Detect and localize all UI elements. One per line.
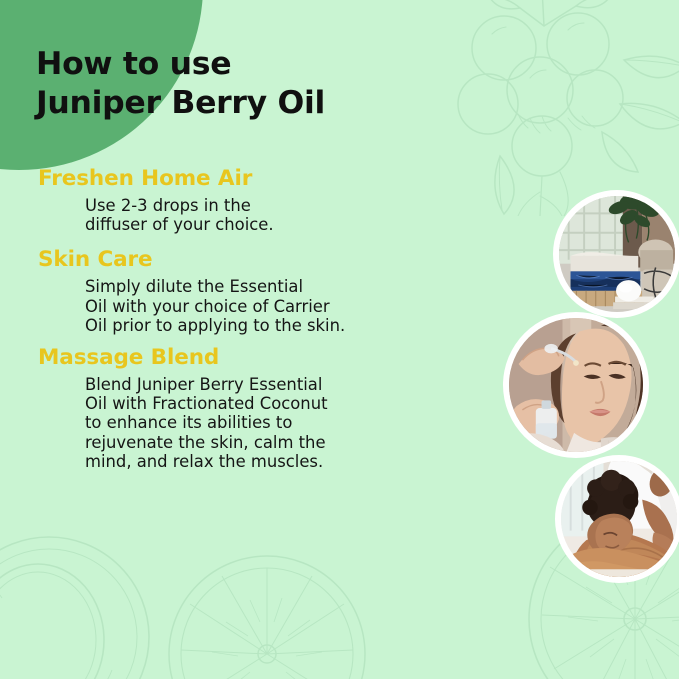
section-body: Use 2-3 drops in the diffuser of your ch…: [85, 196, 520, 234]
section-body-line: mind, and relax the muscles.: [85, 452, 520, 471]
photo-diffuser-room: [553, 190, 679, 318]
fruit-slice-left-watermark-icon: [0, 530, 157, 679]
section-skin-care: Skin Care Simply dilute the Essential Oi…: [0, 247, 520, 335]
page-title: How to use Juniper Berry Oil: [36, 45, 456, 122]
section-body-line: rejuvenate the skin, calm the: [85, 433, 520, 452]
section-freshen-home-air: Freshen Home Air Use 2-3 drops in the di…: [0, 166, 520, 234]
photo-facial-serum: [503, 312, 649, 458]
usage-sections: Freshen Home Air Use 2-3 drops in the di…: [0, 166, 520, 475]
page-title-line-2: Juniper Berry Oil: [36, 84, 456, 123]
section-body-line: Oil prior to applying to the skin.: [85, 316, 520, 335]
section-body: Blend Juniper Berry Essential Oil with F…: [85, 375, 520, 471]
fruit-slice-middle-watermark-icon: [160, 542, 375, 679]
photo-diffuser-room-image: [559, 196, 675, 312]
section-body: Simply dilute the Essential Oil with you…: [85, 277, 520, 335]
section-heading: Freshen Home Air: [38, 166, 520, 191]
page-title-line-1: How to use: [36, 45, 456, 84]
section-body-line: Oil with your choice of Carrier: [85, 297, 520, 316]
section-body-line: Use 2-3 drops in the: [85, 196, 520, 215]
poster-canvas: How to use Juniper Berry Oil Freshen Hom…: [0, 0, 679, 679]
section-heading: Skin Care: [38, 247, 520, 272]
photo-facial-serum-image: [509, 318, 643, 452]
section-body-line: Simply dilute the Essential: [85, 277, 520, 296]
section-body-line: diffuser of your choice.: [85, 215, 520, 234]
section-massage-blend: Massage Blend Blend Juniper Berry Essent…: [0, 345, 520, 471]
section-heading: Massage Blend: [38, 345, 520, 370]
photo-back-massage-image: [561, 461, 677, 577]
photo-back-massage: [555, 455, 679, 583]
section-body-line: Oil with Fractionated Coconut: [85, 394, 520, 413]
section-body-line: to enhance its abilities to: [85, 413, 520, 432]
section-body-line: Blend Juniper Berry Essential: [85, 375, 520, 394]
